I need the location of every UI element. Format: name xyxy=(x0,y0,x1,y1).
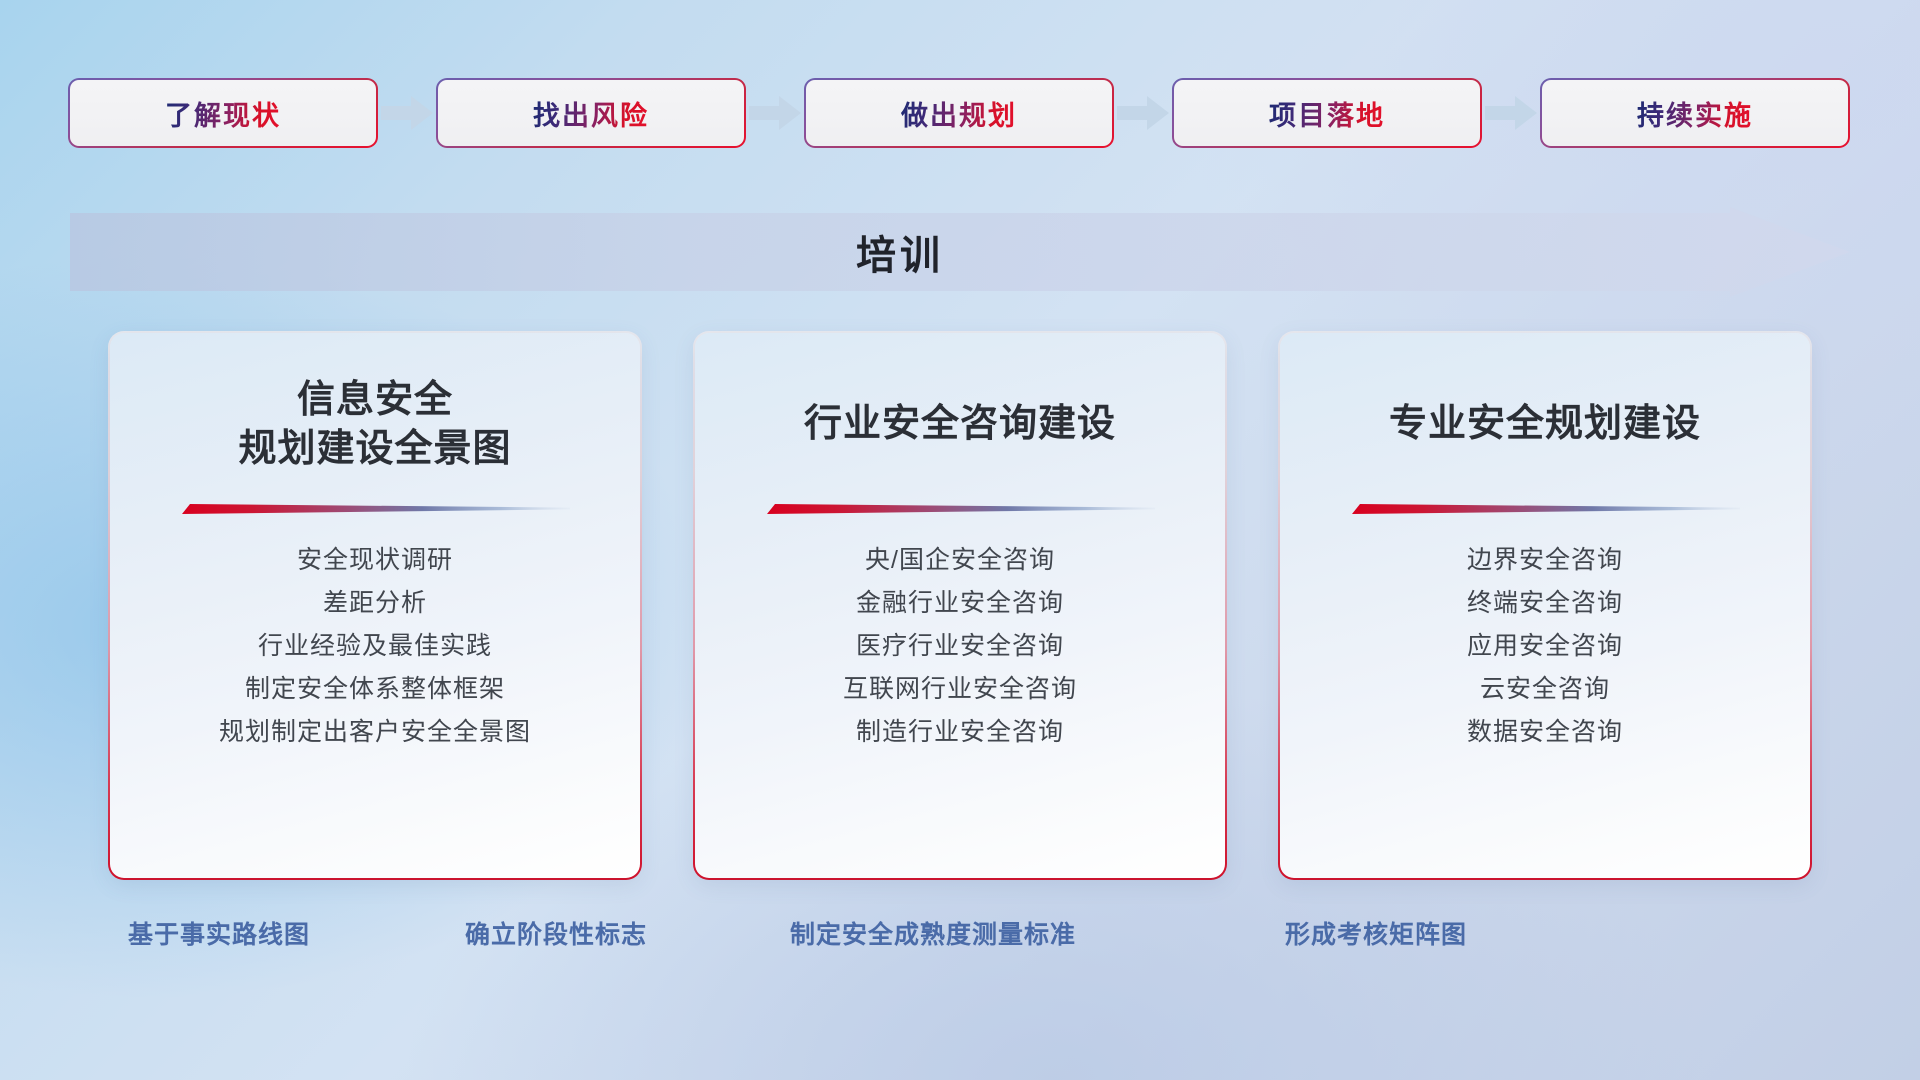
card-title: 专业安全规划建设 xyxy=(1389,375,1701,475)
card-divider xyxy=(1350,501,1740,517)
card-title: 行业安全咨询建设 xyxy=(804,375,1116,475)
list-item: 边界安全咨询 xyxy=(1310,539,1780,582)
list-item: 行业经验及最佳实践 xyxy=(140,625,610,668)
footnote-2: 确立阶段性标志 xyxy=(465,915,647,951)
footnote-4: 形成考核矩阵图 xyxy=(1285,915,1467,951)
list-item: 规划制定出客户安全全景图 xyxy=(140,711,610,754)
flow-step-label: 了解现状 xyxy=(165,94,281,133)
card-title: 信息安全 规划建设全景图 xyxy=(238,375,511,475)
list-item: 央/国企安全咨询 xyxy=(725,539,1195,582)
flow-step-label: 持续实施 xyxy=(1637,94,1753,133)
list-item: 制造行业安全咨询 xyxy=(725,711,1195,754)
arrow-right-icon xyxy=(376,93,438,133)
list-item: 差距分析 xyxy=(140,582,610,625)
list-item: 互联网行业安全咨询 xyxy=(725,668,1195,711)
banner-title: 培训 xyxy=(70,207,1730,297)
card-list: 安全现状调研 差距分析 行业经验及最佳实践 制定安全体系整体框架 规划制定出客户… xyxy=(140,539,610,754)
slide-canvas: 了解现状 找出风险 做出规划 项目落地 持续实施 xyxy=(0,0,1920,1080)
card-divider xyxy=(765,501,1155,517)
card-list: 央/国企安全咨询 金融行业安全咨询 医疗行业安全咨询 互联网行业安全咨询 制造行… xyxy=(725,539,1195,754)
footnote-1: 基于事实路线图 xyxy=(128,915,310,951)
arrow-right-icon xyxy=(1112,93,1174,133)
list-item: 制定安全体系整体框架 xyxy=(140,668,610,711)
list-item: 金融行业安全咨询 xyxy=(725,582,1195,625)
footnotes-row: 基于事实路线图 确立阶段性标志 制定安全成熟度测量标准 形成考核矩阵图 xyxy=(110,915,1810,965)
card-divider xyxy=(180,501,570,517)
flow-step-label: 项目落地 xyxy=(1269,94,1385,133)
process-flow: 了解现状 找出风险 做出规划 项目落地 持续实施 xyxy=(70,78,1850,148)
card-3[interactable]: 专业安全规划建设 xyxy=(1280,333,1810,878)
flow-step-1[interactable]: 了解现状 xyxy=(70,80,376,146)
arrow-right-icon xyxy=(744,93,806,133)
list-item: 云安全咨询 xyxy=(1310,668,1780,711)
list-item: 安全现状调研 xyxy=(140,539,610,582)
card-list: 边界安全咨询 终端安全咨询 应用安全咨询 云安全咨询 数据安全咨询 xyxy=(1310,539,1780,754)
list-item: 医疗行业安全咨询 xyxy=(725,625,1195,668)
flow-step-2[interactable]: 找出风险 xyxy=(438,80,744,146)
footnote-3: 制定安全成熟度测量标准 xyxy=(790,915,1076,951)
card-2[interactable]: 行业安全咨询建设 xyxy=(695,333,1225,878)
arrow-right-icon xyxy=(1480,93,1542,133)
list-item: 数据安全咨询 xyxy=(1310,711,1780,754)
card-1[interactable]: 信息安全 规划建设全景图 xyxy=(110,333,640,878)
flow-step-5[interactable]: 持续实施 xyxy=(1542,80,1848,146)
cards-container: 信息安全 规划建设全景图 xyxy=(110,333,1810,878)
flow-step-3[interactable]: 做出规划 xyxy=(806,80,1112,146)
flow-step-4[interactable]: 项目落地 xyxy=(1174,80,1480,146)
training-banner: 培训 xyxy=(70,207,1850,297)
flow-step-label: 找出风险 xyxy=(533,94,649,133)
list-item: 应用安全咨询 xyxy=(1310,625,1780,668)
list-item: 终端安全咨询 xyxy=(1310,582,1780,625)
flow-step-label: 做出规划 xyxy=(901,94,1017,133)
